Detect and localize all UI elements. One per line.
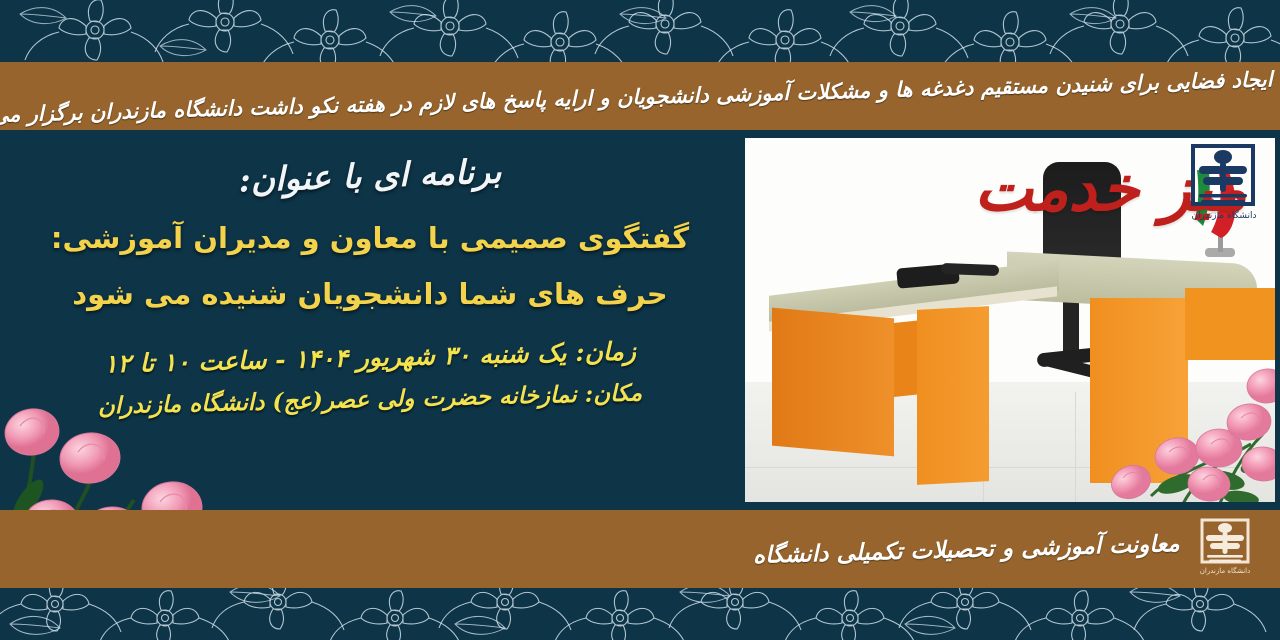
university-logo-caption: دانشگاه مازندران bbox=[1192, 209, 1257, 221]
floral-ornament-icon bbox=[0, 588, 1280, 640]
main-body: میز خدمت دانشگاه مازندران bbox=[0, 130, 1280, 510]
footer-inner: دانشگاه مازندران معاونت آموزشی و تحصیلات… bbox=[0, 510, 1280, 588]
footer-logo-caption: دانشگاه مازندران bbox=[1200, 566, 1251, 575]
bottom-floral-band bbox=[0, 588, 1280, 640]
text-column: برنامه ای با عنوان: گفتگوی صمیمی با معاو… bbox=[8, 130, 732, 510]
top-floral-band bbox=[0, 0, 1280, 62]
desk-phone-handset bbox=[941, 263, 999, 276]
university-logo: دانشگاه مازندران bbox=[1187, 144, 1261, 230]
footer-ribbon: دانشگاه مازندران معاونت آموزشی و تحصیلات… bbox=[0, 510, 1280, 588]
place-line: مکان: نمازخانه حضرت ولی عصر(عج) دانشگاه … bbox=[8, 377, 732, 422]
footer-text: معاونت آموزشی و تحصیلات تکمیلی دانشگاه bbox=[753, 530, 1180, 569]
desk-leg-middle bbox=[917, 306, 989, 485]
headline-2: حرف های شما دانشجویان شنیده می شود bbox=[8, 277, 732, 311]
desk-leg-left bbox=[772, 308, 894, 457]
footer-university-logo: دانشگاه مازندران bbox=[1198, 518, 1252, 580]
university-of-mazandaran-logo-icon: دانشگاه مازندران bbox=[1187, 144, 1261, 230]
top-ribbon: با هدف ایجاد فضایی برای شنیدن مستقیم دغد… bbox=[0, 62, 1280, 130]
top-ribbon-text: با هدف ایجاد فضایی برای شنیدن مستقیم دغد… bbox=[0, 64, 1280, 128]
time-line: زمان: یک شنبه ۳۰ شهریور ۱۴۰۴ - ساعت ۱۰ ت… bbox=[8, 334, 732, 381]
intro-line: برنامه ای با عنوان: bbox=[8, 143, 733, 207]
service-desk-photo: میز خدمت دانشگاه مازندران bbox=[745, 138, 1275, 502]
floral-ornament-icon bbox=[0, 0, 1280, 62]
university-of-mazandaran-logo-icon: دانشگاه مازندران bbox=[1198, 518, 1252, 580]
poster-root: با هدف ایجاد فضایی برای شنیدن مستقیم دغد… bbox=[0, 0, 1280, 640]
roses-photo bbox=[1091, 356, 1275, 502]
desk-skirt-right bbox=[1185, 288, 1275, 360]
floor-tile-line bbox=[1075, 392, 1076, 502]
headline-1: گفتگوی صمیمی با معاون و مدیران آموزشی: bbox=[8, 221, 732, 255]
